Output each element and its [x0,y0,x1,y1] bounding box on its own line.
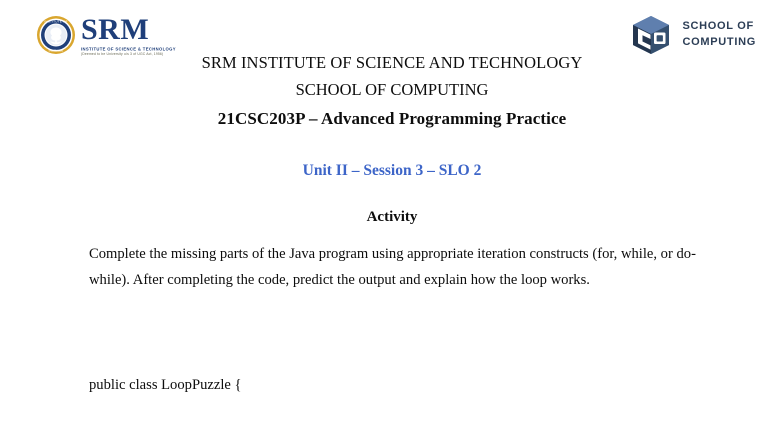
soc-line-1: SCHOOL OF [682,19,756,35]
svg-text:SCIENCE: SCIENCE [48,48,63,52]
title-block: SRM INSTITUTE OF SCIENCE AND TECHNOLOGY … [88,50,696,228]
school-of-computing-label: SCHOOL OF COMPUTING [682,19,756,51]
document-page: INSTITUTE OF SCIENCE SRM INSTITUTE OF SC… [0,0,784,441]
instructions-block: Complete the missing parts of the Java p… [89,242,697,293]
instructions-paragraph: Complete the missing parts of the Java p… [89,242,697,293]
unit-session-subtitle: Unit II – Session 3 – SLO 2 [88,160,696,182]
srm-wordmark: SRM [81,16,176,45]
java-code-listing: public class LoopPuzzle { public static … [89,322,709,441]
section-heading-activity: Activity [88,206,696,228]
srm-circular-emblem-icon: INSTITUTE OF SCIENCE [36,15,76,55]
course-title: 21CSC203P – Advanced Programming Practic… [88,103,696,135]
school-title: SCHOOL OF COMPUTING [88,76,696,103]
code-line: public class LoopPuzzle { [89,373,709,399]
soc-line-2: COMPUTING [682,35,756,51]
institute-title: SRM INSTITUTE OF SCIENCE AND TECHNOLOGY [88,50,696,76]
svg-text:INSTITUTE OF: INSTITUTE OF [44,20,68,24]
